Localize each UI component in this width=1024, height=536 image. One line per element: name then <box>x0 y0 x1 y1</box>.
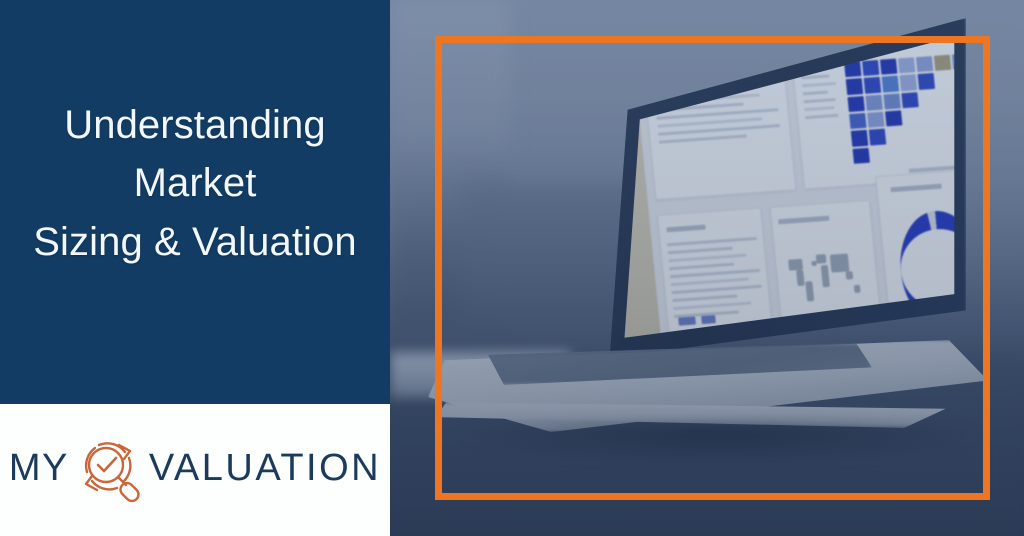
summary-card <box>641 46 795 200</box>
logo-panel: MY <box>0 404 390 536</box>
brand-logo[interactable]: MY <box>9 432 381 504</box>
page-title: Understanding Market Sizing & Valuation <box>0 96 390 271</box>
title-panel: Understanding Market Sizing & Valuation <box>0 0 390 404</box>
magnifier-checkmark-refresh-icon <box>73 432 145 504</box>
laptop-dashboard-photo <box>390 0 1024 536</box>
card-title-bar <box>778 215 829 224</box>
card-title-bar <box>890 184 941 193</box>
logo-word-valuation: VALUATION <box>149 449 381 487</box>
map-progress-bar <box>805 334 866 344</box>
card-title-bar <box>666 224 705 232</box>
table-cell-highlight <box>701 315 716 324</box>
heatmap-matrix <box>843 53 956 164</box>
page-title-line-1: Understanding <box>0 96 390 154</box>
table-cell-highlight <box>678 316 695 325</box>
marketing-banner: Understanding Market Sizing & Valuation … <box>0 0 1024 536</box>
laptop-shadow <box>460 422 980 464</box>
page-title-line-3: Sizing & Valuation <box>0 213 390 271</box>
logo-word-my: MY <box>9 449 69 487</box>
card-title-bar <box>653 61 720 71</box>
page-title-line-2: Market <box>0 154 390 212</box>
laptop-icon <box>420 10 1020 430</box>
metric-label-rows <box>800 65 847 175</box>
